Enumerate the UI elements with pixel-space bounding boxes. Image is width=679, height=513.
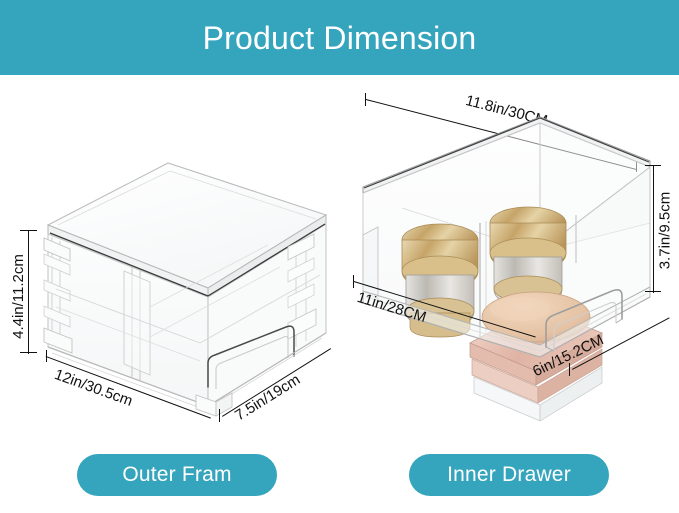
pill-outer-frame[interactable]: Outer Fram (77, 454, 277, 496)
depth-rule-tick-inner (569, 363, 570, 376)
front-width-tick-inner (353, 275, 354, 288)
product-inner-drawer: 11.8in/30CM (340, 75, 679, 450)
height-rule-line-inner (653, 165, 654, 293)
depth-rule-tick-outer (219, 409, 220, 422)
inner-drawer-illustration (340, 75, 679, 450)
product-label-pills: Outer Fram Inner Drawer (0, 450, 679, 513)
cosmetic-jar-right (490, 207, 566, 305)
pill-inner-drawer-label: Inner Drawer (447, 463, 571, 487)
height-rule-tick-top-inner (645, 165, 661, 166)
product-outer-frame: 4.4in/11.2cm (0, 75, 339, 450)
page-title: Product Dimension (203, 22, 477, 54)
pill-outer-frame-label: Outer Fram (122, 463, 231, 487)
width-rule-tick-left-outer (46, 350, 47, 362)
header-banner: Product Dimension (0, 0, 679, 75)
inner-drawer-height-label: 3.7in/9.5cm (657, 171, 674, 291)
products-stage: 4.4in/11.2cm (0, 75, 679, 450)
height-rule-tick-bottom-inner (645, 291, 661, 292)
product-dimension-infographic: Product Dimension 4.4in/11.2cm (0, 0, 679, 513)
pill-inner-drawer[interactable]: Inner Drawer (409, 454, 609, 496)
